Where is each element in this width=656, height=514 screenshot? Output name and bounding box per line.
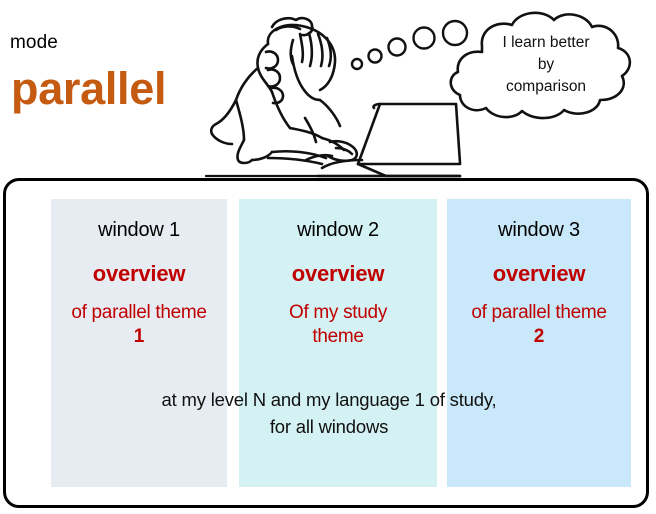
mode-value: parallel [11,66,166,111]
window-3-title: window 3 [447,219,631,241]
window-3-subtitle: of parallel theme [447,301,631,325]
window-2-subtitle-line-1: Of my study [239,301,437,325]
window-2-heading: overview [239,262,437,286]
window-1-number: 1 [51,325,227,350]
mode-label: mode [10,33,58,52]
window-panel-1[interactable]: window 1 overview of parallel theme 1 [51,199,227,487]
window-2-title: window 2 [239,219,437,241]
window-1-title: window 1 [51,219,227,241]
windows-row: window 1 overview of parallel theme 1 wi… [6,181,646,505]
window-3-heading: overview [447,262,631,286]
thought-line-1: I learn better [470,32,622,54]
window-panel-2[interactable]: window 2 overview Of my study theme [239,199,437,487]
window-1-subtitle: of parallel theme [51,301,227,325]
thought-bubble-text: I learn better by comparison [470,32,622,98]
header-area: mode parallel [0,0,656,178]
window-2-subtitle-line-2: theme [239,325,437,349]
window-1-heading: overview [51,262,227,286]
window-panel-3[interactable]: window 3 overview of parallel theme 2 [447,199,631,487]
window-3-number: 2 [447,325,631,350]
thought-line-2: by [470,54,622,76]
thought-line-3: comparison [470,76,622,98]
windows-container: window 1 overview of parallel theme 1 wi… [3,178,649,508]
window-2-subtitle: Of my study theme [239,301,437,349]
